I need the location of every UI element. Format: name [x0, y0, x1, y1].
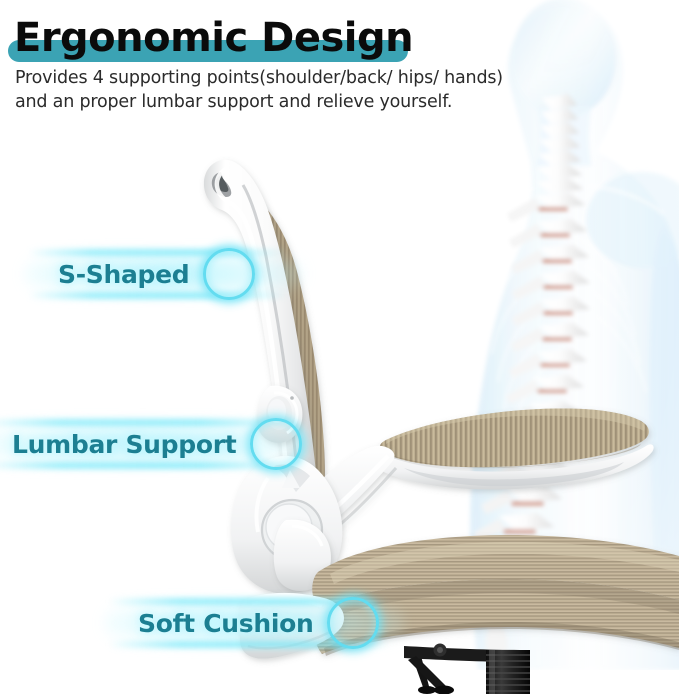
- callout-s-shaped: S-Shaped: [58, 243, 255, 305]
- header-block: Ergonomic Design Provides 4 supporting p…: [0, 0, 679, 125]
- callout-label: Lumbar Support: [12, 430, 236, 459]
- callout-glow-line-top: [0, 419, 294, 426]
- callout-glow-line-bottom: [0, 462, 294, 469]
- subtitle: Provides 4 supporting points(shoulder/ba…: [15, 66, 615, 114]
- page-title: Ergonomic Design: [14, 12, 413, 64]
- subtitle-line-2: and an proper lumbar support and relieve…: [15, 90, 615, 114]
- subtitle-line-1: Provides 4 supporting points(shoulder/ba…: [15, 66, 615, 90]
- title-wrap: Ergonomic Design: [14, 12, 413, 64]
- callout-lumbar-support: Lumbar Support: [12, 413, 302, 475]
- callout-label: S-Shaped: [58, 260, 189, 289]
- callout-soft-cushion: Soft Cushion: [138, 592, 379, 654]
- callout-label: Soft Cushion: [138, 609, 313, 638]
- product-feature-graphic: Ergonomic Design Provides 4 supporting p…: [0, 0, 679, 694]
- callout-glow-line-bottom: [28, 292, 286, 299]
